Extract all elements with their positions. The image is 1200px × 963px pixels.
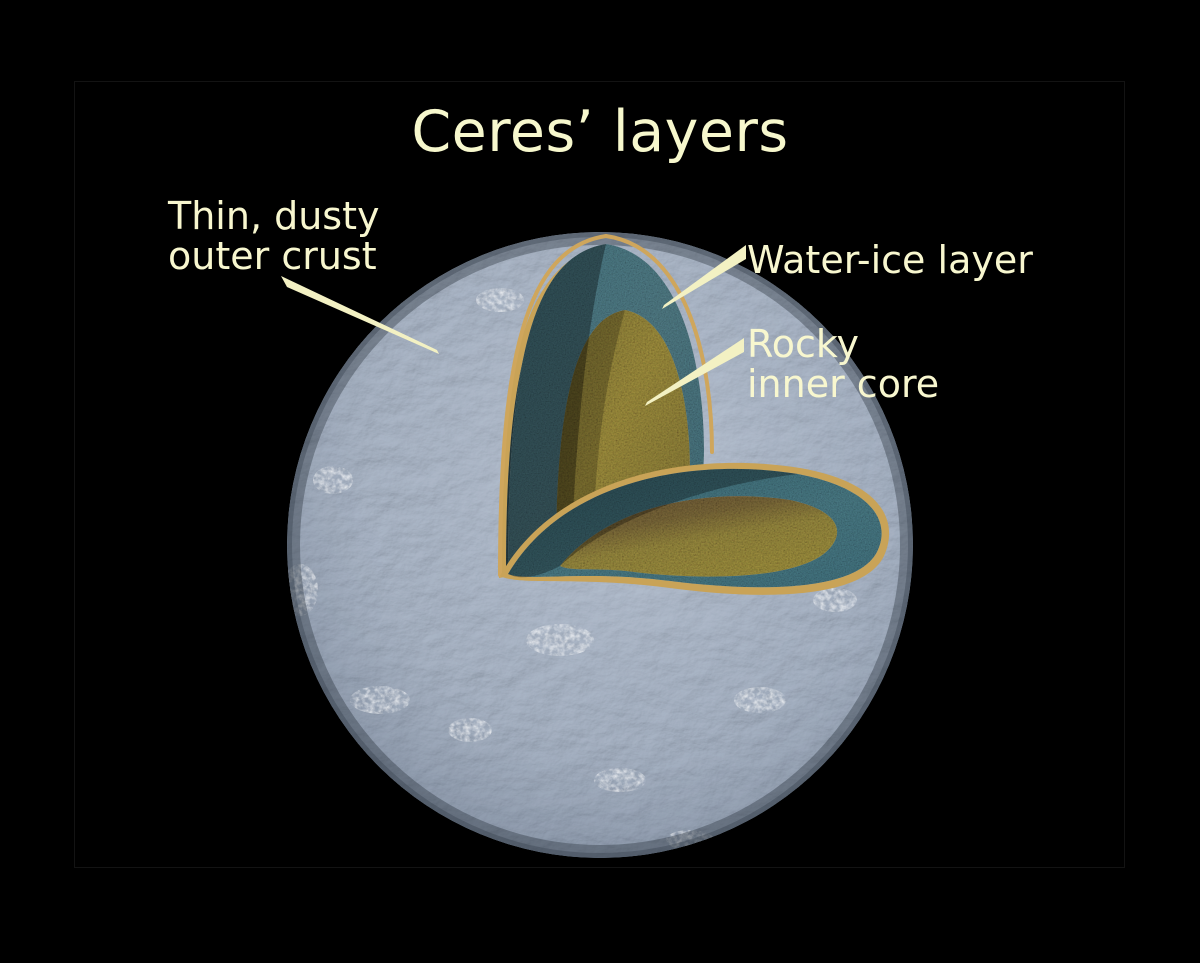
label-rocky-core: Rocky inner core: [747, 324, 939, 404]
label-water-ice: Water-ice layer: [747, 240, 1033, 280]
label-outer-crust: Thin, dusty outer crust: [168, 196, 380, 276]
page-title: Ceres’ layers: [0, 104, 1200, 161]
figure-canvas: Ceres’ layers Thin, dusty outer crust Wa…: [0, 0, 1200, 963]
